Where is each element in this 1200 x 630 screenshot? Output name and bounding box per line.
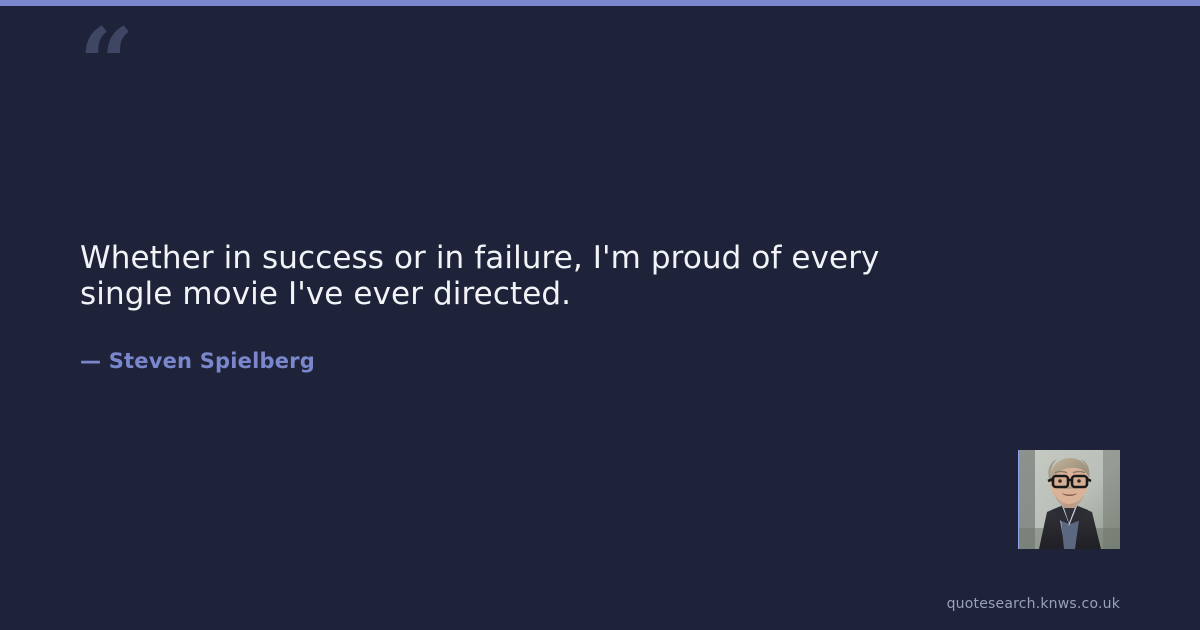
quote-text: Whether in success or in failure, I'm pr… xyxy=(80,240,980,312)
site-url: quotesearch.knws.co.uk xyxy=(947,596,1120,612)
top-accent-bar xyxy=(0,0,1200,6)
quote-block: Whether in success or in failure, I'm pr… xyxy=(80,240,980,374)
quote-card: “ Whether in success or in failure, I'm … xyxy=(0,0,1200,630)
author-portrait-image xyxy=(1019,450,1120,549)
quote-mark-icon: “ xyxy=(79,16,132,112)
quote-attribution: — Steven Spielberg xyxy=(80,312,980,374)
author-portrait xyxy=(1019,450,1120,549)
